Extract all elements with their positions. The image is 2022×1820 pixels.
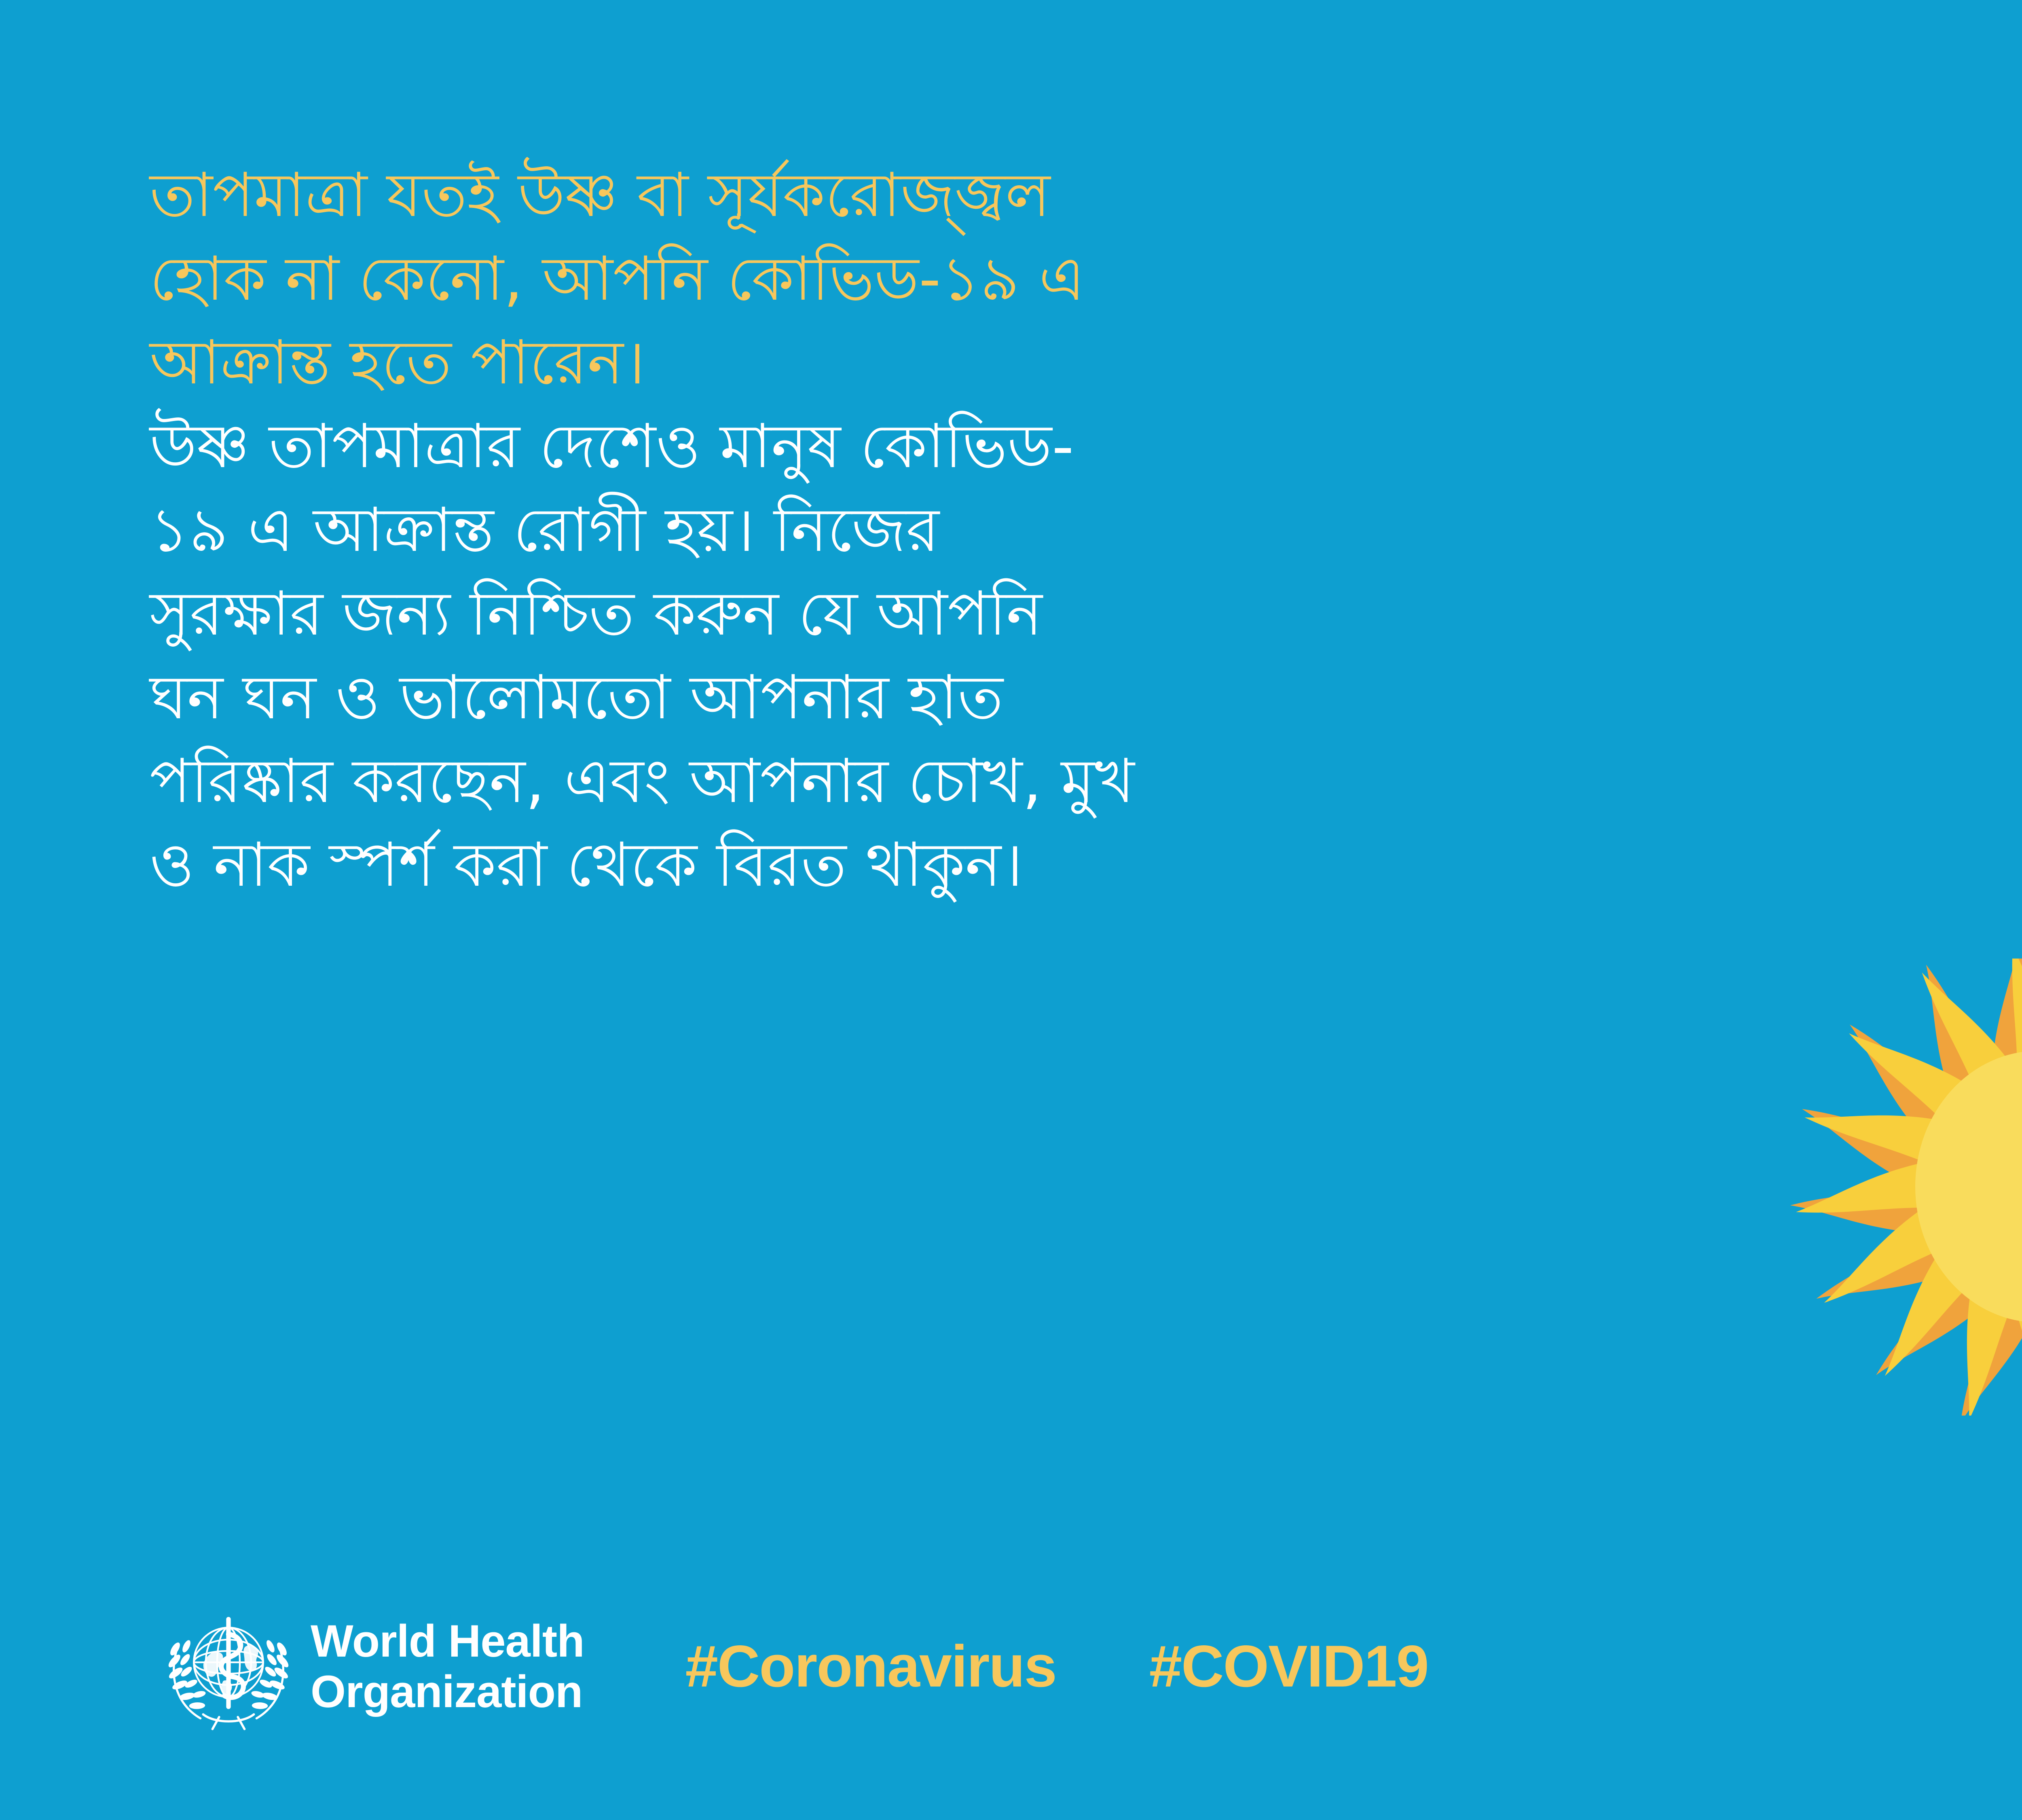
fact-line: করোনাভাইরাসের আক্রমণ থেকে রক্ষা xyxy=(1698,531,2022,616)
myth-line: ও নাক স্পর্শ করা থেকে বিরত থাকুন। xyxy=(150,823,1646,907)
fact-line: তাপমাত্রার উপরে রাখলে xyxy=(1698,446,2022,531)
fact-text-block: সঠিক তথ্যঃ নিজেকে রোদের তাপে বা ২৫C ডিগ্… xyxy=(1698,275,2022,701)
who-wordmark: World Health Organization xyxy=(311,1616,584,1717)
myth-line: পরিষ্কার করছেন, এবং আপনার চোখ, মুখ xyxy=(150,740,1646,823)
hashtag-group: #Coronavirus #COVID19 xyxy=(685,1632,1428,1700)
myth-line: হোক না কেনো, আপনি কোভিড-১৯ এ xyxy=(150,237,1646,321)
who-emblem-icon xyxy=(162,1600,295,1733)
myth-line: ১৯ এ আক্রান্ত রোগী হয়। নিজের xyxy=(150,489,1646,572)
fact-line: নিজেকে রোদের তাপে বা ২৫C ডিগ্রীর xyxy=(1698,361,2022,446)
fact-line: করা যাবে না। xyxy=(1698,616,2022,701)
fact-heading: সঠিক তথ্যঃ xyxy=(1698,275,2022,361)
myth-line: আক্রান্ত হতে পারেন। xyxy=(150,321,1646,405)
myth-line: উষ্ণ তাপমাত্রার দেশেও মানুষ কোভিড- xyxy=(150,405,1646,489)
poster-canvas: তাপমাত্রা যতই উষ্ণ বা সূর্যকরোজ্জ্বল হোক… xyxy=(0,0,2022,1820)
sun-icon xyxy=(1787,959,2022,1416)
myth-line: তাপমাত্রা যতই উষ্ণ বা সূর্যকরোজ্জ্বল xyxy=(150,154,1646,237)
footer-bar: World Health Organization #Coronavirus #… xyxy=(162,1594,1428,1739)
who-wordmark-line2: Organization xyxy=(311,1666,584,1717)
myth-text-block: তাপমাত্রা যতই উষ্ণ বা সূর্যকরোজ্জ্বল হোক… xyxy=(150,154,1646,907)
who-wordmark-line1: World Health xyxy=(311,1616,584,1666)
hashtag-coronavirus[interactable]: #Coronavirus xyxy=(685,1632,1056,1700)
myth-line: সুরক্ষার জন্য নিশ্চিত করুন যে আপনি xyxy=(150,572,1646,656)
myth-line: ঘন ঘন ও ভালোমতো আপনার হাত xyxy=(150,656,1646,740)
hashtag-covid19[interactable]: #COVID19 xyxy=(1149,1632,1428,1700)
